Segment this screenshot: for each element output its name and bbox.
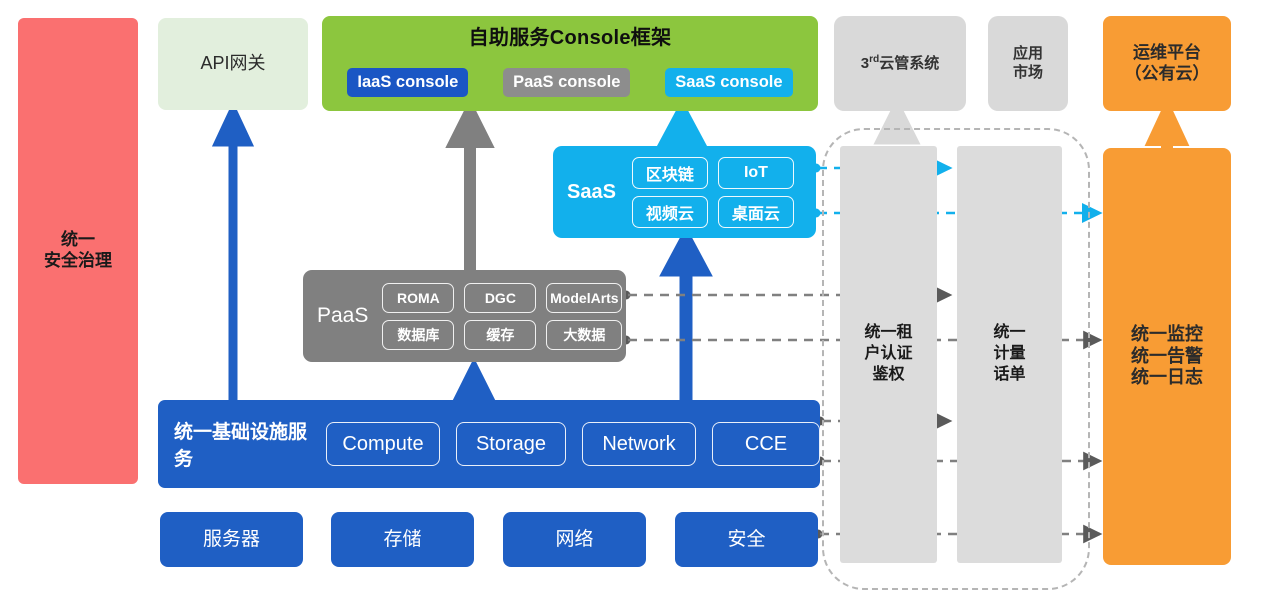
ops-platform-right-panel[interactable]: 统一监控 统一告警 统一日志 xyxy=(1103,148,1231,565)
unified-metering-line2: 计量 xyxy=(993,344,1025,365)
ops-monitoring-label: 统一监控 xyxy=(1131,324,1203,346)
unified-tenant-auth-line2: 户认证 xyxy=(864,344,912,365)
api-gateway-label: API网关 xyxy=(200,53,265,75)
api-gateway-box[interactable]: API网关 xyxy=(158,18,308,110)
saas-service-desktop-cloud[interactable]: 桌面云 xyxy=(718,196,794,228)
app-market-line1: 应用 xyxy=(1013,45,1043,63)
saas-service-iot[interactable]: IoT xyxy=(718,157,794,189)
hardware-security-label: 安全 xyxy=(727,528,765,551)
hardware-network-label: 网络 xyxy=(555,528,593,551)
infra-service-compute[interactable]: Compute xyxy=(326,422,440,466)
infrastructure-service-row: Compute Storage Network CCE xyxy=(326,422,820,466)
architecture-diagram: 统一 安全治理 API网关 自助服务Console框架 IaaS console… xyxy=(0,0,1265,605)
ops-platform-top-box[interactable]: 运维平台 （公有云） xyxy=(1103,16,1231,111)
hardware-storage-box[interactable]: 存储 xyxy=(331,512,474,567)
hardware-server-label: 服务器 xyxy=(203,528,260,551)
paas-service-modelarts[interactable]: ModelArts xyxy=(546,283,622,313)
hardware-network-box[interactable]: 网络 xyxy=(503,512,646,567)
paas-service-cache[interactable]: 缓存 xyxy=(464,320,536,350)
ops-log-label: 统一日志 xyxy=(1131,367,1203,389)
unified-tenant-auth-line1: 统一租 xyxy=(864,323,912,344)
third-party-suffix: 云管系统 xyxy=(879,55,939,72)
saas-box[interactable]: SaaS 区块链 IoT 视频云 桌面云 xyxy=(553,146,816,238)
paas-console-chip[interactable]: PaaS console xyxy=(503,68,630,97)
arrow-paas-to-console xyxy=(455,112,485,272)
paas-service-dgc[interactable]: DGC xyxy=(464,283,536,313)
ops-platform-line2: （公有云） xyxy=(1125,64,1210,85)
paas-label: PaaS xyxy=(317,304,368,328)
console-frame-title-row: 自助服务Console框架 xyxy=(322,16,818,60)
app-market-box[interactable]: 应用 市场 xyxy=(988,16,1068,111)
hardware-storage-label: 存储 xyxy=(383,528,421,551)
hardware-server-box[interactable]: 服务器 xyxy=(160,512,303,567)
unified-tenant-auth-column[interactable]: 统一租 户认证 鉴权 xyxy=(840,146,937,563)
saas-service-blockchain[interactable]: 区块链 xyxy=(632,157,708,189)
paas-service-grid: ROMA DGC ModelArts 数据库 缓存 大数据 xyxy=(382,283,622,350)
infra-service-cce[interactable]: CCE xyxy=(712,422,820,466)
unified-metering-line1: 统一 xyxy=(993,323,1025,344)
arrow-infra-to-saas xyxy=(670,240,702,406)
third-party-superscript: rd xyxy=(869,54,879,65)
saas-service-grid: 区块链 IoT 视频云 桌面云 xyxy=(632,157,794,228)
ops-alarm-label: 统一告警 xyxy=(1131,346,1203,368)
third-party-cloud-mgmt-label: 3rd云管系统 xyxy=(861,54,940,73)
unified-tenant-auth-line3: 鉴权 xyxy=(872,365,904,386)
infra-service-storage[interactable]: Storage xyxy=(456,422,566,466)
unified-security-label: 统一 安全治理 xyxy=(44,230,112,271)
unified-infrastructure-box[interactable]: 统一基础设施服务 Compute Storage Network CCE xyxy=(158,400,820,488)
arrow-infra-to-apigw xyxy=(219,112,247,406)
app-market-line2: 市场 xyxy=(1013,64,1043,82)
self-service-console-frame[interactable]: 自助服务Console框架 IaaS console PaaS console … xyxy=(322,16,818,111)
console-frame-title: 自助服务Console框架 xyxy=(469,26,672,50)
unified-security-panel[interactable]: 统一 安全治理 xyxy=(18,18,138,484)
hardware-security-box[interactable]: 安全 xyxy=(675,512,818,567)
iaas-console-chip[interactable]: IaaS console xyxy=(347,68,468,97)
unified-metering-column[interactable]: 统一 计量 话单 xyxy=(957,146,1062,563)
third-party-cloud-mgmt-box[interactable]: 3rd云管系统 xyxy=(834,16,966,111)
saas-console-chip[interactable]: SaaS console xyxy=(665,68,792,97)
ops-platform-line1: 运维平台 xyxy=(1133,43,1201,64)
unified-metering-line3: 话单 xyxy=(993,365,1025,386)
third-party-prefix: 3 xyxy=(861,55,869,72)
paas-service-database[interactable]: 数据库 xyxy=(382,320,454,350)
saas-label: SaaS xyxy=(567,181,616,204)
paas-service-bigdata[interactable]: 大数据 xyxy=(546,320,622,350)
paas-service-roma[interactable]: ROMA xyxy=(382,283,454,313)
unified-infrastructure-label: 统一基础设施服务 xyxy=(174,417,312,471)
paas-box[interactable]: PaaS ROMA DGC ModelArts 数据库 缓存 大数据 xyxy=(303,270,626,362)
arrow-saas-to-saasconsole xyxy=(667,112,697,148)
console-chip-row: IaaS console PaaS console SaaS console xyxy=(322,60,818,104)
infra-service-network[interactable]: Network xyxy=(582,422,696,466)
arrow-into-ops-platform xyxy=(1154,112,1180,148)
saas-service-video-cloud[interactable]: 视频云 xyxy=(632,196,708,228)
